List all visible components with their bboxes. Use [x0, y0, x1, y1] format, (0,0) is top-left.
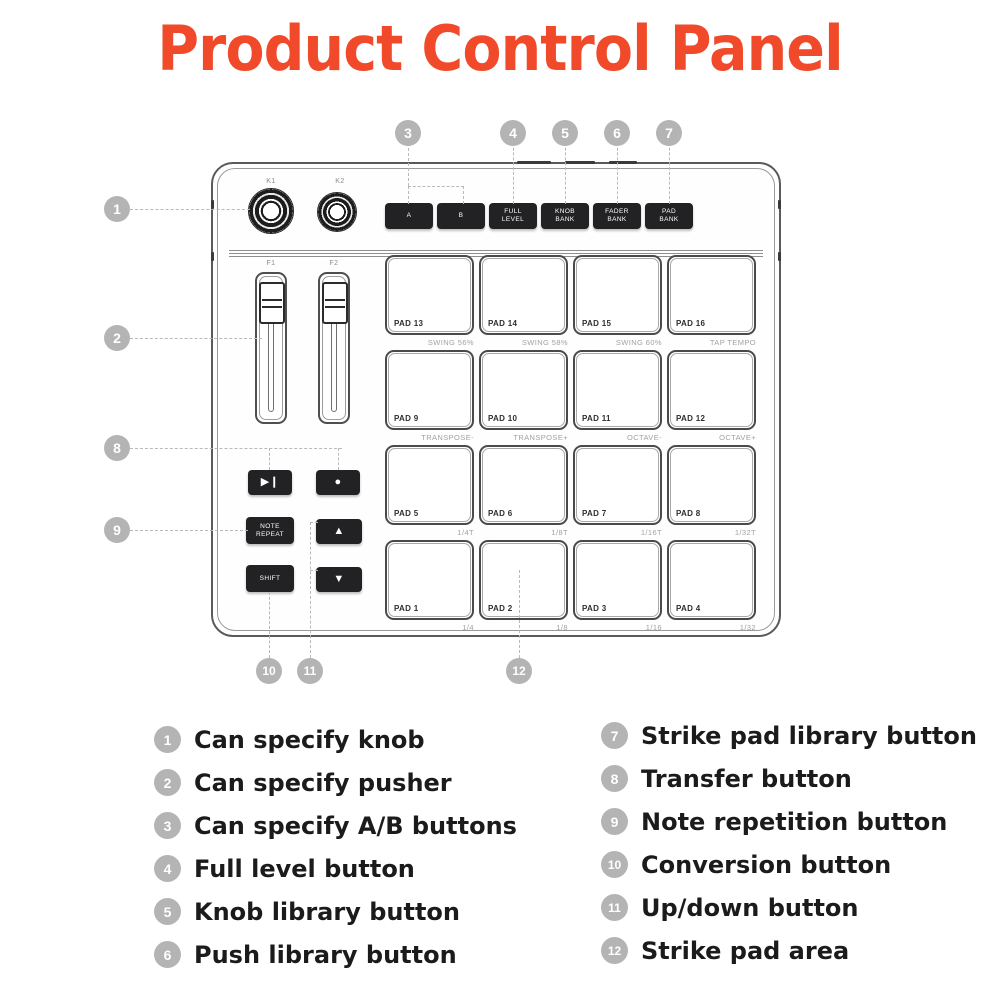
leader-line-7: [669, 138, 670, 204]
full-level-button[interactable]: FULL LEVEL: [489, 203, 537, 229]
note-repeat-button[interactable]: NOTE REPEAT: [246, 517, 294, 544]
callout-4[interactable]: 4: [500, 120, 526, 146]
legend: 1 Can specify knob 2 Can specify pusher …: [0, 718, 1000, 1000]
legend-item-3[interactable]: 3 Can specify A/B buttons: [154, 804, 584, 847]
legend-badge-6: 6: [154, 941, 181, 968]
fader-label-f1: F1: [255, 260, 287, 267]
pad-10[interactable]: PAD 10: [479, 350, 568, 430]
pad-4-label: PAD 4: [676, 604, 700, 613]
fader-bank-button[interactable]: FADER BANK: [593, 203, 641, 229]
callout-8[interactable]: 8: [104, 435, 130, 461]
legend-badge-10: 10: [601, 851, 628, 878]
left-side-mark-1: [211, 200, 214, 209]
top-port-mark-1: [517, 161, 551, 164]
down-arrow-icon: ▼: [333, 574, 344, 585]
pad-5-label: PAD 5: [394, 509, 418, 518]
leader-line-1: [130, 209, 250, 210]
fader-bank-button-label-1: FADER: [605, 208, 629, 216]
pad-13[interactable]: PAD 13: [385, 255, 474, 335]
callout-5[interactable]: 5: [552, 120, 578, 146]
legend-badge-4: 4: [154, 855, 181, 882]
pad-15-label: PAD 15: [582, 319, 611, 328]
right-side-mark-1: [778, 200, 781, 209]
knob-bank-button[interactable]: KNOB BANK: [541, 203, 589, 229]
pad-6-label: PAD 6: [488, 509, 512, 518]
device-diagram: K1 K2 F1 F2 A B FULL LEVEL KNOB BANK FAD…: [0, 110, 1000, 700]
leader-line-3-branch-b: [463, 186, 464, 204]
full-level-button-label-2: LEVEL: [502, 216, 524, 224]
pad-7[interactable]: PAD 7: [573, 445, 662, 525]
fader-f2[interactable]: [318, 272, 350, 424]
b-button[interactable]: B: [437, 203, 485, 229]
note-repeat-button-label-1: NOTE: [260, 523, 280, 531]
leader-line-6: [617, 138, 618, 204]
shift-button-label: SHIFT: [260, 575, 281, 583]
pad-16-label: PAD 16: [676, 319, 705, 328]
top-port-mark-3: [609, 161, 637, 164]
right-side-mark-2: [778, 252, 781, 261]
pad-12-sublabel: OCTAVE+: [667, 433, 756, 442]
pad-bank-button-label-1: PAD: [662, 208, 676, 216]
pad-8-sublabel: 1/32T: [667, 528, 756, 537]
fader-f1[interactable]: [255, 272, 287, 424]
pad-6[interactable]: PAD 6: [479, 445, 568, 525]
leader-line-8-branch-left: [269, 448, 270, 470]
pad-3[interactable]: PAD 3: [573, 540, 662, 620]
fader-label-f2: F2: [318, 260, 350, 267]
pad-12[interactable]: PAD 12: [667, 350, 756, 430]
callout-6[interactable]: 6: [604, 120, 630, 146]
record-icon: ●: [334, 477, 341, 488]
legend-item-7[interactable]: 7 Strike pad library button: [601, 714, 1000, 757]
leader-line-11: [310, 522, 311, 658]
legend-badge-9: 9: [601, 808, 628, 835]
left-side-mark-2: [211, 252, 214, 261]
pad-8-label: PAD 8: [676, 509, 700, 518]
leader-line-3-branch-a: [408, 186, 409, 204]
note-repeat-button-label-2: REPEAT: [256, 531, 284, 539]
legend-badge-1: 1: [154, 726, 181, 753]
pad-12-label: PAD 12: [676, 414, 705, 423]
legend-badge-12: 12: [601, 937, 628, 964]
knob-bank-button-label-1: KNOB: [555, 208, 575, 216]
callout-12[interactable]: 12: [506, 658, 532, 684]
legend-label-2: Can specify pusher: [194, 769, 452, 797]
pad-15[interactable]: PAD 15: [573, 255, 662, 335]
callout-11[interactable]: 11: [297, 658, 323, 684]
pad-bank-button-label-2: BANK: [659, 216, 678, 224]
pad-14[interactable]: PAD 14: [479, 255, 568, 335]
pad-13-label: PAD 13: [394, 319, 423, 328]
up-button[interactable]: ▲: [316, 519, 362, 544]
pad-bank-button[interactable]: PAD BANK: [645, 203, 693, 229]
legend-badge-11: 11: [601, 894, 628, 921]
callout-1[interactable]: 1: [104, 196, 130, 222]
legend-item-9[interactable]: 9 Note repetition button: [601, 800, 1000, 843]
pad-14-label: PAD 14: [488, 319, 517, 328]
leader-line-4: [513, 138, 514, 204]
pad-9-label: PAD 9: [394, 414, 418, 423]
pad-1-sublabel: 1/4: [385, 623, 474, 632]
b-button-label: B: [459, 212, 464, 220]
legend-badge-7: 7: [601, 722, 628, 749]
pad-3-label: PAD 3: [582, 604, 606, 613]
top-port-mark-2: [565, 161, 595, 164]
legend-badge-5: 5: [154, 898, 181, 925]
pad-13-sublabel: SWING 56%: [385, 338, 474, 347]
pad-3-sublabel: 1/16: [573, 623, 662, 632]
legend-label-9: Note repetition button: [641, 808, 947, 836]
legend-label-11: Up/down button: [641, 894, 859, 922]
knob-bank-button-label-2: BANK: [555, 216, 574, 224]
leader-line-9: [130, 530, 248, 531]
pad-10-sublabel: TRANSPOSE+: [479, 433, 568, 442]
pad-7-sublabel: 1/16T: [573, 528, 662, 537]
legend-item-5[interactable]: 5 Knob library button: [154, 890, 584, 933]
legend-label-4: Full level button: [194, 855, 415, 883]
legend-item-4[interactable]: 4 Full level button: [154, 847, 584, 890]
a-button[interactable]: A: [385, 203, 433, 229]
pad-10-label: PAD 10: [488, 414, 517, 423]
legend-label-10: Conversion button: [641, 851, 891, 879]
pad-15-sublabel: SWING 60%: [573, 338, 662, 347]
leader-line-12: [519, 570, 520, 658]
leader-line-3-bracket: [408, 186, 464, 187]
pad-7-label: PAD 7: [582, 509, 606, 518]
pad-2-label: PAD 2: [488, 604, 512, 613]
pad-11-sublabel: OCTAVE-: [573, 433, 662, 442]
legend-badge-2: 2: [154, 769, 181, 796]
legend-item-8[interactable]: 8 Transfer button: [601, 757, 1000, 800]
pad-11[interactable]: PAD 11: [573, 350, 662, 430]
legend-label-7: Strike pad library button: [641, 722, 977, 750]
shift-button[interactable]: SHIFT: [246, 565, 294, 592]
legend-badge-3: 3: [154, 812, 181, 839]
up-arrow-icon: ▲: [333, 526, 344, 537]
pad-14-sublabel: SWING 58%: [479, 338, 568, 347]
pad-5-sublabel: 1/4T: [385, 528, 474, 537]
callout-10[interactable]: 10: [256, 658, 282, 684]
fader-bank-button-label-2: BANK: [607, 216, 626, 224]
legend-item-6[interactable]: 6 Push library button: [154, 933, 584, 976]
pad-1[interactable]: PAD 1: [385, 540, 474, 620]
callout-7[interactable]: 7: [656, 120, 682, 146]
legend-item-1[interactable]: 1 Can specify knob: [154, 718, 584, 761]
pad-9-sublabel: TRANSPOSE-: [385, 433, 474, 442]
pad-1-label: PAD 1: [394, 604, 418, 613]
legend-label-5: Knob library button: [194, 898, 460, 926]
legend-label-12: Strike pad area: [641, 937, 849, 965]
legend-item-12[interactable]: 12 Strike pad area: [601, 929, 1000, 972]
pad-6-sublabel: 1/8T: [479, 528, 568, 537]
legend-column-left: 1 Can specify knob 2 Can specify pusher …: [154, 718, 584, 976]
legend-label-1: Can specify knob: [194, 726, 425, 754]
callout-2[interactable]: 2: [104, 325, 130, 351]
fader-f2-thumb[interactable]: [322, 282, 348, 324]
legend-label-3: Can specify A/B buttons: [194, 812, 517, 840]
legend-item-10[interactable]: 10 Conversion button: [601, 843, 1000, 886]
down-button[interactable]: ▼: [316, 567, 362, 592]
full-level-button-label-1: FULL: [504, 208, 522, 216]
pad-16[interactable]: PAD 16: [667, 255, 756, 335]
leader-line-11-branch-up: [310, 522, 318, 523]
leader-line-8-branch-right: [338, 448, 339, 470]
leader-line-2: [130, 338, 262, 339]
pad-16-sublabel: TAP TEMPO: [667, 338, 756, 347]
pad-4-sublabel: 1/32: [667, 623, 756, 632]
legend-item-11[interactable]: 11 Up/down button: [601, 886, 1000, 929]
pad-5[interactable]: PAD 5: [385, 445, 474, 525]
play-pause-icon: ▶❙: [261, 477, 279, 488]
callout-3[interactable]: 3: [395, 120, 421, 146]
knob-label-k2: K2: [317, 178, 363, 185]
pad-8[interactable]: PAD 8: [667, 445, 756, 525]
legend-item-2[interactable]: 2 Can specify pusher: [154, 761, 584, 804]
leader-line-8: [130, 448, 342, 449]
legend-column-right: 7 Strike pad library button 8 Transfer b…: [601, 714, 1000, 972]
knob-k1[interactable]: [248, 188, 294, 234]
leader-line-10: [269, 592, 270, 658]
leader-line-5: [565, 138, 566, 204]
legend-label-6: Push library button: [194, 941, 457, 969]
record-button[interactable]: ●: [316, 470, 360, 495]
pad-2[interactable]: PAD 2: [479, 540, 568, 620]
callout-9[interactable]: 9: [104, 517, 130, 543]
pad-4[interactable]: PAD 4: [667, 540, 756, 620]
legend-badge-8: 8: [601, 765, 628, 792]
pad-9[interactable]: PAD 9: [385, 350, 474, 430]
pad-2-sublabel: 1/8: [479, 623, 568, 632]
a-button-label: A: [407, 212, 412, 220]
play-pause-button[interactable]: ▶❙: [248, 470, 292, 495]
legend-label-8: Transfer button: [641, 765, 852, 793]
pad-11-label: PAD 11: [582, 414, 611, 423]
leader-line-11-branch-down: [310, 570, 318, 571]
page-title: Product Control Panel: [40, 18, 960, 80]
fader-f1-thumb[interactable]: [259, 282, 285, 324]
knob-label-k1: K1: [248, 178, 294, 185]
knob-k2[interactable]: [317, 192, 357, 232]
